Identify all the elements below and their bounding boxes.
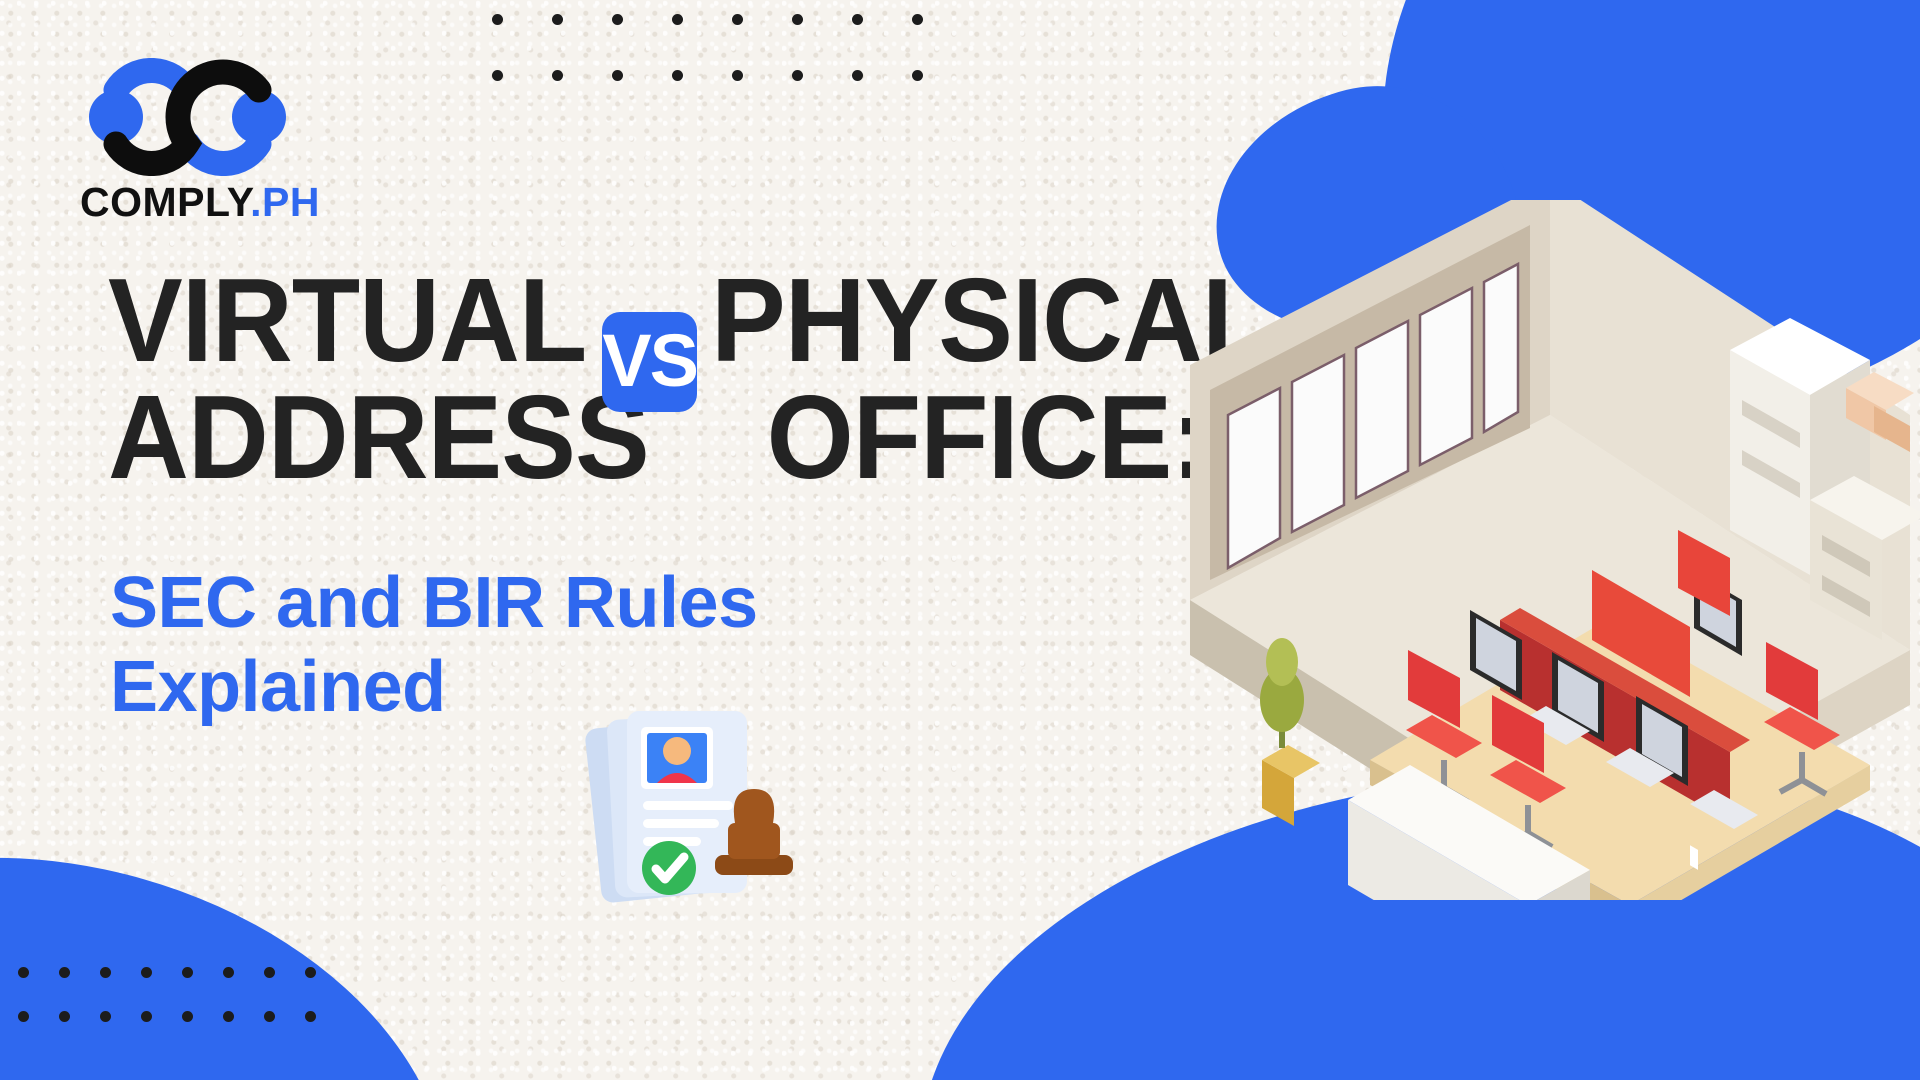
brand-name-primary: COMPLY bbox=[80, 179, 250, 225]
dot bbox=[223, 967, 234, 978]
dot bbox=[305, 967, 316, 978]
dot-grid-top bbox=[492, 14, 923, 81]
isometric-office-illustration bbox=[1170, 200, 1920, 900]
brand-logo: COMPLY.PH bbox=[80, 58, 360, 223]
dot bbox=[792, 14, 803, 25]
dot bbox=[223, 1011, 234, 1022]
dot bbox=[18, 1011, 29, 1022]
dot bbox=[141, 1011, 152, 1022]
dot bbox=[141, 967, 152, 978]
dot bbox=[59, 967, 70, 978]
dot bbox=[100, 1011, 111, 1022]
id-photo bbox=[641, 727, 713, 789]
dot bbox=[672, 70, 683, 81]
dot bbox=[492, 14, 503, 25]
dot bbox=[612, 70, 623, 81]
subtitle: SEC and BIR Rules Explained bbox=[110, 562, 1010, 729]
promo-banner: COMPLY.PH VIRTUAL VS PHYSICAL ADDRESS OF… bbox=[0, 0, 1920, 1080]
bottom-left-blue-blob bbox=[0, 797, 506, 1080]
dot bbox=[672, 14, 683, 25]
brand-wordmark: COMPLY.PH bbox=[80, 182, 360, 223]
headline-word-office: OFFICE: bbox=[767, 383, 1208, 492]
dot bbox=[552, 14, 563, 25]
dot bbox=[182, 967, 193, 978]
dot bbox=[912, 70, 923, 81]
headline: VIRTUAL VS PHYSICAL ADDRESS OFFICE: bbox=[108, 272, 1228, 492]
check-badge-icon bbox=[642, 841, 696, 895]
headline-word-virtual: VIRTUAL bbox=[108, 266, 586, 375]
dot bbox=[100, 967, 111, 978]
dot bbox=[732, 14, 743, 25]
dot bbox=[552, 70, 563, 81]
dot bbox=[492, 70, 503, 81]
dot bbox=[852, 14, 863, 25]
dot bbox=[852, 70, 863, 81]
infinity-link-logo-icon bbox=[80, 58, 295, 176]
dot bbox=[59, 1011, 70, 1022]
dot bbox=[612, 14, 623, 25]
dot bbox=[792, 70, 803, 81]
dot bbox=[264, 967, 275, 978]
dot bbox=[732, 70, 743, 81]
headline-word-address: ADDRESS bbox=[108, 383, 649, 492]
dot-grid-bottom bbox=[18, 967, 316, 1022]
dot bbox=[912, 14, 923, 25]
versus-badge: VS bbox=[602, 312, 697, 412]
dot bbox=[182, 1011, 193, 1022]
dot bbox=[305, 1011, 316, 1022]
headline-line-1: VIRTUAL VS PHYSICAL bbox=[108, 272, 1228, 375]
dot bbox=[18, 967, 29, 978]
brand-name-accent: .PH bbox=[250, 179, 320, 225]
dot bbox=[264, 1011, 275, 1022]
verified-id-document-with-stamp-illustration bbox=[585, 705, 835, 920]
